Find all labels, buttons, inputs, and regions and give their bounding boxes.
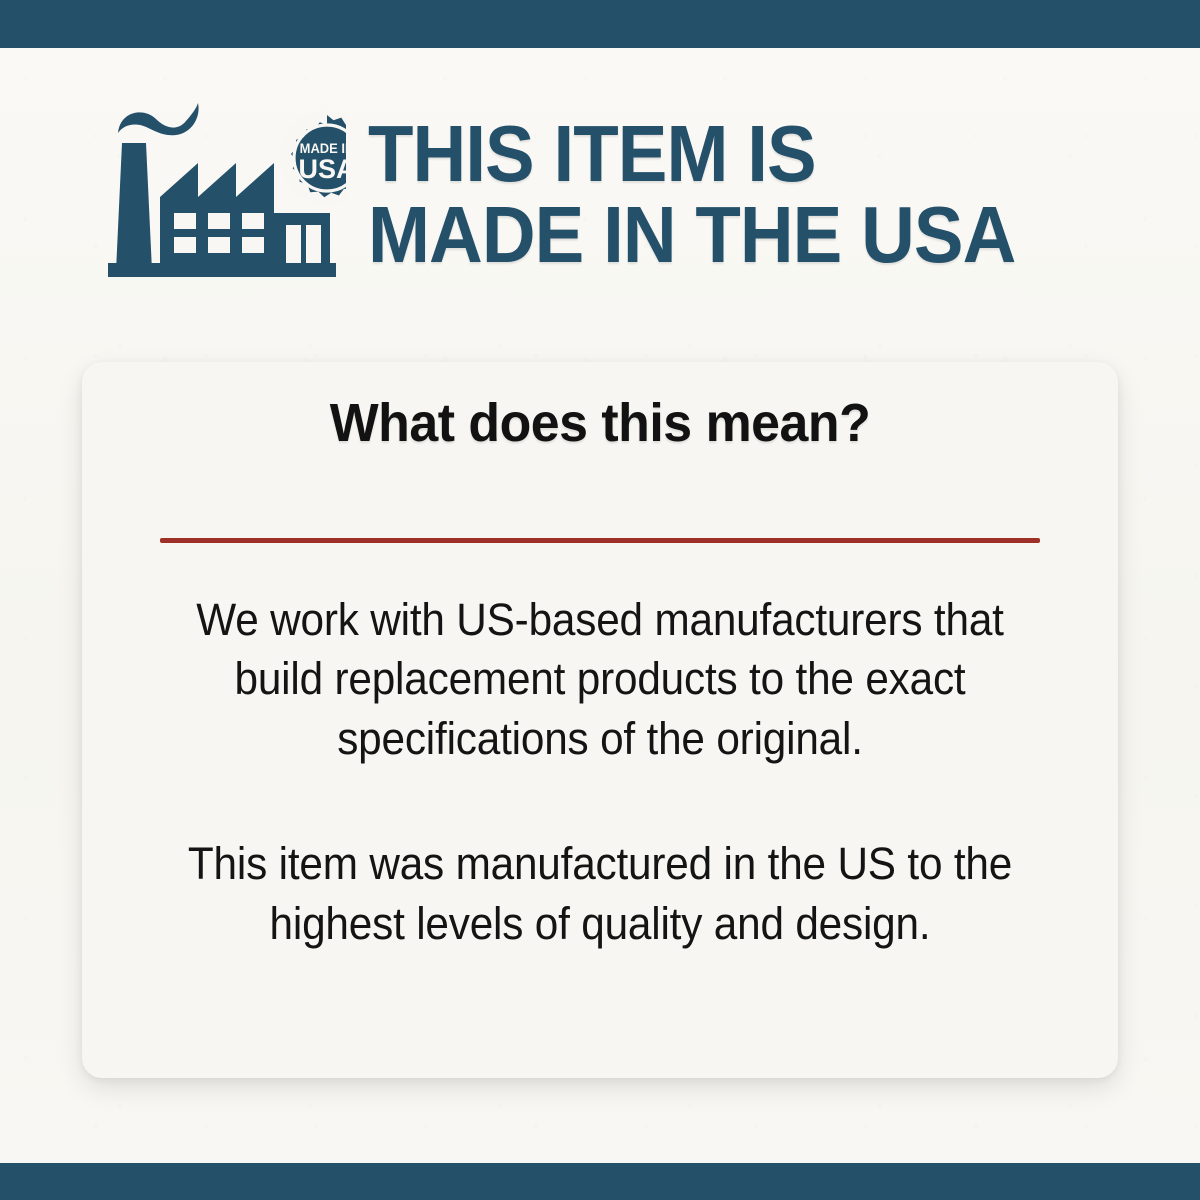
page-title-line-2: MADE IN THE USA	[368, 197, 1095, 272]
card-heading: What does this mean?	[103, 396, 1098, 450]
card-paragraph-1: We work with US-based manufacturers that…	[158, 590, 1042, 768]
card-paragraph-2: This item was manufactured in the US to …	[158, 834, 1042, 953]
info-card: What does this mean? We work with US-bas…	[82, 362, 1118, 1078]
factory-icon: MADE IN USA	[100, 101, 346, 287]
svg-text:USA: USA	[298, 154, 346, 184]
page-title-line-1: THIS ITEM IS	[368, 116, 1095, 191]
heading-divider	[160, 538, 1040, 543]
page-title: THIS ITEM IS MADE IN THE USA	[368, 116, 1095, 272]
made-in-usa-banner: MADE IN USA THIS ITEM IS MADE IN THE USA…	[0, 0, 1200, 1200]
header: MADE IN USA THIS ITEM IS MADE IN THE USA	[100, 96, 1150, 292]
bottom-accent-bar	[0, 1163, 1200, 1200]
top-accent-bar	[0, 0, 1200, 48]
card-body: We work with US-based manufacturers that…	[158, 590, 1042, 953]
